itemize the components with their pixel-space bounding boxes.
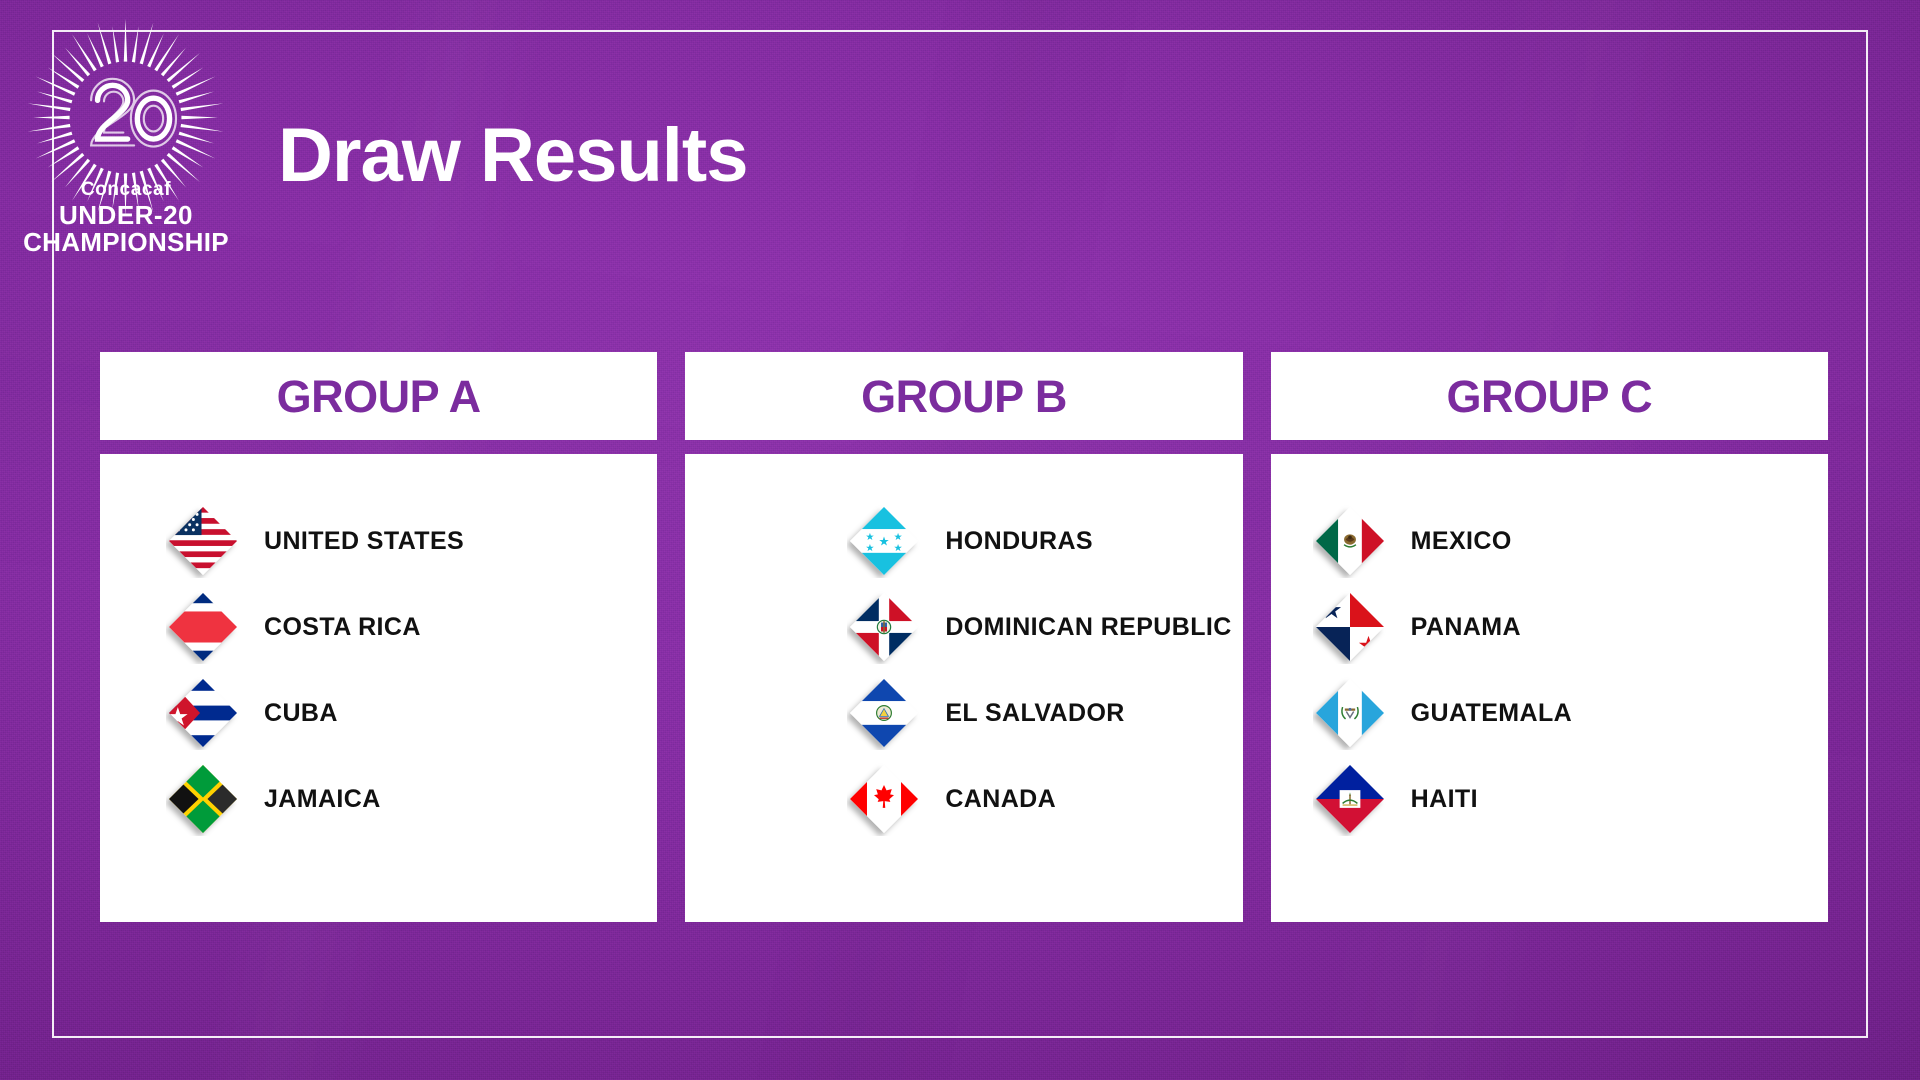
logo-concacaf-text: Concacaf xyxy=(6,180,246,199)
flag-haiti-icon xyxy=(1313,762,1387,836)
group-c-divider xyxy=(1271,440,1828,454)
flag-united-states-icon xyxy=(166,504,240,578)
team-name: CUBA xyxy=(264,699,338,728)
team-name: CANADA xyxy=(945,785,1056,814)
team-name: COSTA RICA xyxy=(264,613,421,642)
logo-championship-text: CHAMPIONSHIP xyxy=(6,229,246,255)
group-c-label: GROUP C xyxy=(1446,374,1652,419)
team-name: HAITI xyxy=(1411,785,1478,814)
table-row[interactable]: UNITED STATES xyxy=(100,498,657,584)
table-row[interactable]: CANADA xyxy=(685,756,1242,842)
groups-container: GROUP A xyxy=(100,352,1828,922)
table-row[interactable]: PANAMA xyxy=(1271,584,1828,670)
flag-costa-rica-icon xyxy=(166,590,240,664)
table-row[interactable]: HAITI xyxy=(1271,756,1828,842)
table-row[interactable]: CUBA xyxy=(100,670,657,756)
group-b-label: GROUP B xyxy=(861,374,1067,419)
table-row[interactable]: JAMAICA xyxy=(100,756,657,842)
flag-honduras-icon xyxy=(847,504,921,578)
flag-jamaica-icon xyxy=(166,762,240,836)
group-a-divider xyxy=(100,440,657,454)
flag-panama-icon xyxy=(1313,590,1387,664)
team-name: MEXICO xyxy=(1411,527,1512,556)
group-b-header: GROUP B xyxy=(685,352,1242,440)
flag-mexico-icon xyxy=(1313,504,1387,578)
team-name: GUATEMALA xyxy=(1411,699,1572,728)
team-name: DOMINICAN REPUBLIC xyxy=(945,613,1231,642)
group-b-team-list: HONDURAS xyxy=(685,454,1242,922)
team-name: EL SALVADOR xyxy=(945,699,1124,728)
logo-wordmark: Concacaf UNDER-20 CHAMPIONSHIP xyxy=(6,180,246,255)
group-c-header: GROUP C xyxy=(1271,352,1828,440)
group-card-c: GROUP C xyxy=(1271,352,1828,922)
group-a-team-list: UNITED STATES xyxy=(100,454,657,922)
group-card-b: GROUP B xyxy=(685,352,1242,922)
group-a-label: GROUP A xyxy=(277,374,481,419)
group-a-header: GROUP A xyxy=(100,352,657,440)
table-row[interactable]: EL SALVADOR xyxy=(685,670,1242,756)
team-name: HONDURAS xyxy=(945,527,1093,556)
table-row[interactable]: HONDURAS xyxy=(685,498,1242,584)
team-name: PANAMA xyxy=(1411,613,1521,642)
logo-under20-text: UNDER-20 xyxy=(6,202,246,228)
table-row[interactable]: COSTA RICA xyxy=(100,584,657,670)
draw-results-graphic: Concacaf UNDER-20 CHAMPIONSHIP Draw Resu… xyxy=(0,0,1920,1080)
group-c-team-list: MEXICO xyxy=(1271,454,1828,922)
flag-el-salvador-icon xyxy=(847,676,921,750)
team-name: UNITED STATES xyxy=(264,527,464,556)
group-card-a: GROUP A xyxy=(100,352,657,922)
table-row[interactable]: MEXICO xyxy=(1271,498,1828,584)
team-name: JAMAICA xyxy=(264,785,381,814)
flag-canada-icon xyxy=(847,762,921,836)
flag-cuba-icon xyxy=(166,676,240,750)
flag-guatemala-icon xyxy=(1313,676,1387,750)
table-row[interactable]: DOMINICAN REPUBLIC xyxy=(685,584,1242,670)
page-title: Draw Results xyxy=(278,118,748,194)
flag-dominican-republic-icon xyxy=(847,590,921,664)
group-b-divider xyxy=(685,440,1242,454)
table-row[interactable]: GUATEMALA xyxy=(1271,670,1828,756)
